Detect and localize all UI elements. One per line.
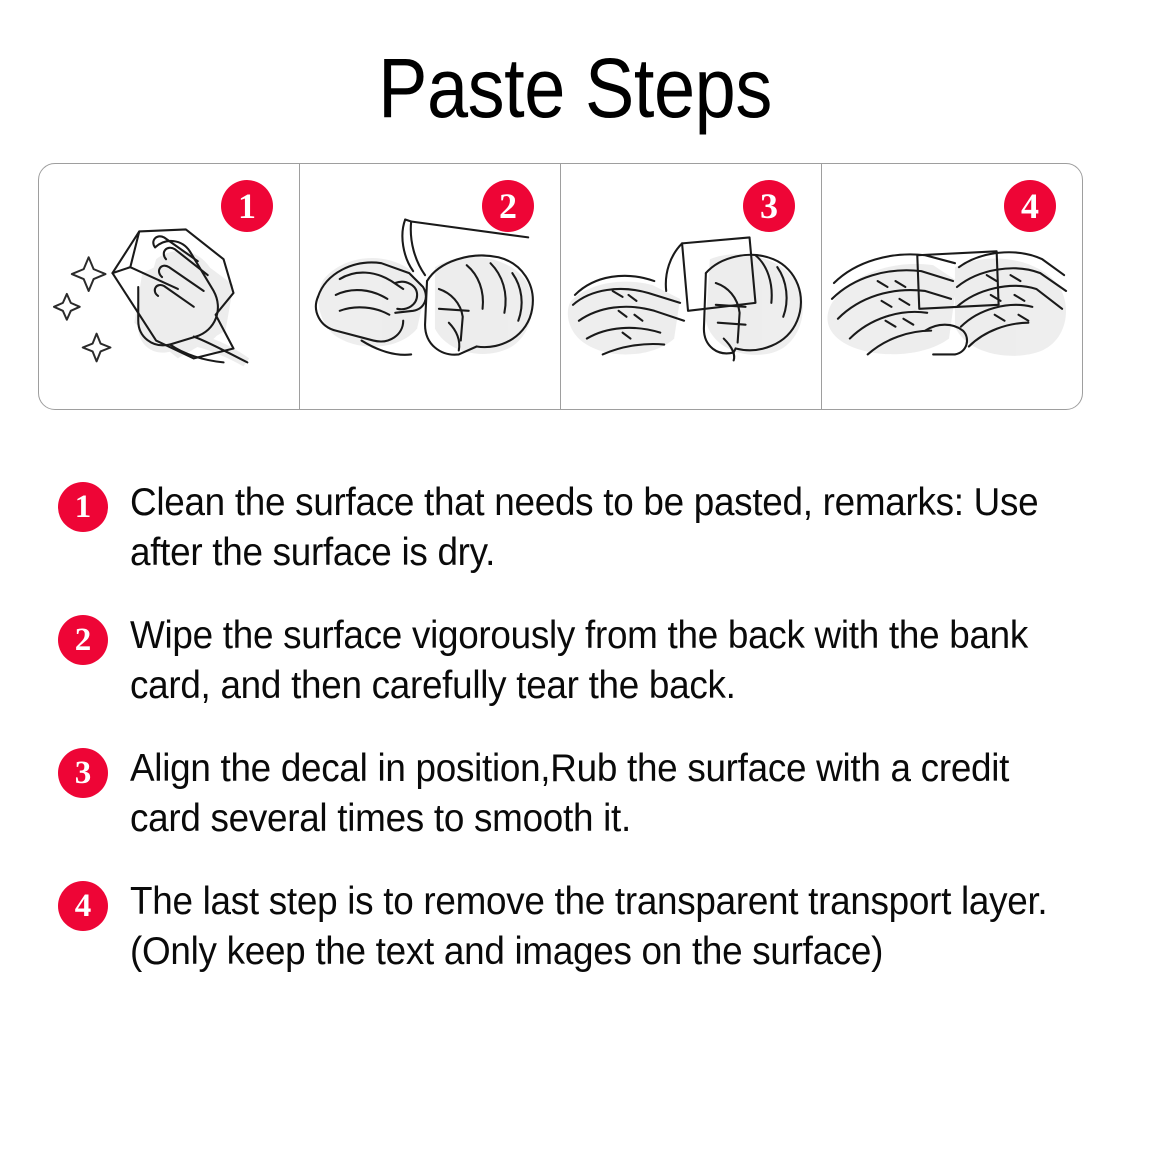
step-badge-2: 2 <box>58 615 108 665</box>
paste-steps-infographic: Paste Steps <box>0 0 1150 1150</box>
step-item: 4 The last step is to remove the transpa… <box>0 877 1150 977</box>
step-text-4: The last step is to remove the transpare… <box>130 877 1050 977</box>
step-item: 1 Clean the surface that needs to be pas… <box>0 478 1150 578</box>
panel-badge-2: 2 <box>482 180 534 232</box>
step-badge-4: 4 <box>58 881 108 931</box>
step-text-1: Clean the surface that needs to be paste… <box>130 478 1050 578</box>
step-item: 2 Wipe the surface vigorously from the b… <box>0 611 1150 711</box>
illustration-panel-1: 1 <box>39 164 300 409</box>
illustration-panel-4: 4 <box>822 164 1082 409</box>
illustration-panel-2: 2 <box>300 164 561 409</box>
step-item: 3 Align the decal in position,Rub the su… <box>0 744 1150 844</box>
step-text-3: Align the decal in position,Rub the surf… <box>130 744 1050 844</box>
panel-badge-1: 1 <box>221 180 273 232</box>
panel-badge-3: 3 <box>743 180 795 232</box>
page-title: Paste Steps <box>69 46 1081 130</box>
illustration-panel-3: 3 <box>561 164 822 409</box>
sparkle-icon <box>54 257 111 361</box>
step-text-2: Wipe the surface vigorously from the bac… <box>130 611 1050 711</box>
illustration-panel-strip: 1 <box>38 163 1083 410</box>
step-badge-3: 3 <box>58 748 108 798</box>
steps-list: 1 Clean the surface that needs to be pas… <box>0 478 1150 1010</box>
panel-badge-4: 4 <box>1004 180 1056 232</box>
step-badge-1: 1 <box>58 482 108 532</box>
